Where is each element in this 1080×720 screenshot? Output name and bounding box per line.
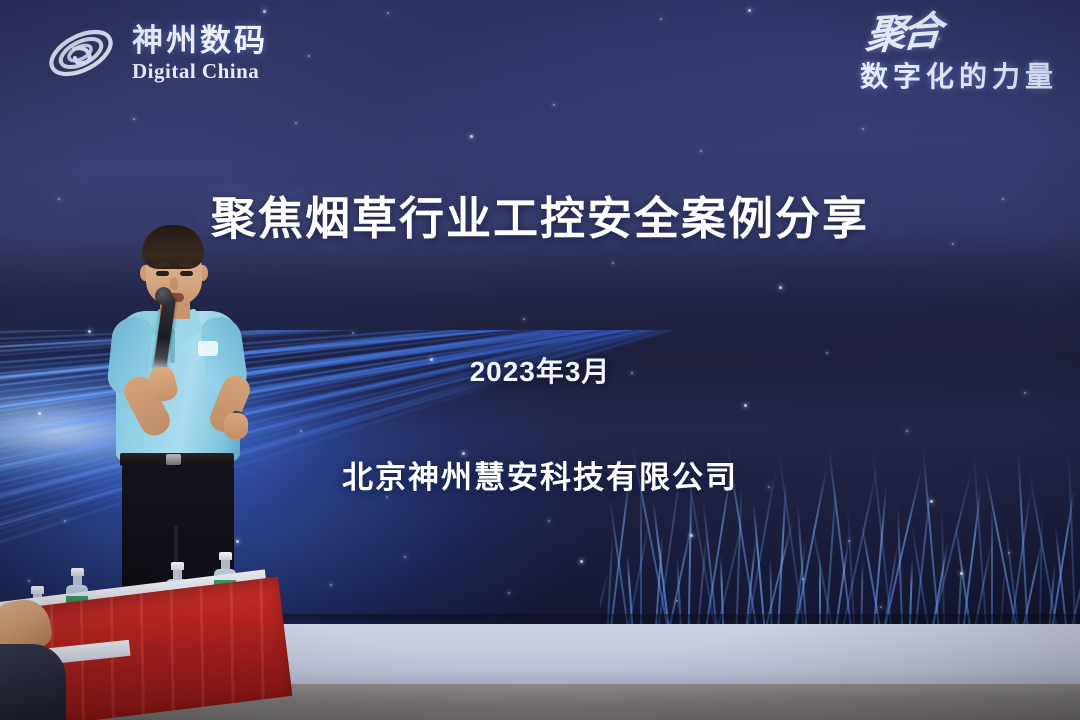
speaker-hand-right <box>224 413 248 439</box>
bottle-cap <box>171 562 184 570</box>
brand-lockup: 神州数码 Digital China <box>44 22 268 84</box>
speaker-eye-right <box>180 271 193 276</box>
speaker-belt-buckle <box>166 454 181 465</box>
stage-photo: 神州数码 Digital China 聚合 数字化的力量 聚焦烟草行业工控安全案… <box>0 0 1080 720</box>
bottle-cap <box>31 586 44 594</box>
brand-name-cn: 神州数码 <box>132 25 268 56</box>
bottle-cap <box>219 552 232 560</box>
event-slogan: 聚合 数字化的力量 <box>860 16 1058 95</box>
audience-shoulder <box>0 644 66 720</box>
shirt-logo-icon <box>198 341 218 356</box>
bottle-neck <box>173 570 182 579</box>
speaker-hair <box>142 225 204 269</box>
digital-china-swirl-icon <box>44 22 118 84</box>
brand-name-en: Digital China <box>132 61 268 82</box>
speaker-eye-left <box>156 271 169 276</box>
bottle-cap <box>71 568 84 576</box>
slogan-subtitle: 数字化的力量 <box>860 55 1058 95</box>
speaker-nose <box>170 277 178 290</box>
bottle-neck <box>221 560 230 569</box>
bottle-neck <box>73 576 82 585</box>
slogan-brush-text: 聚合 <box>858 13 940 55</box>
